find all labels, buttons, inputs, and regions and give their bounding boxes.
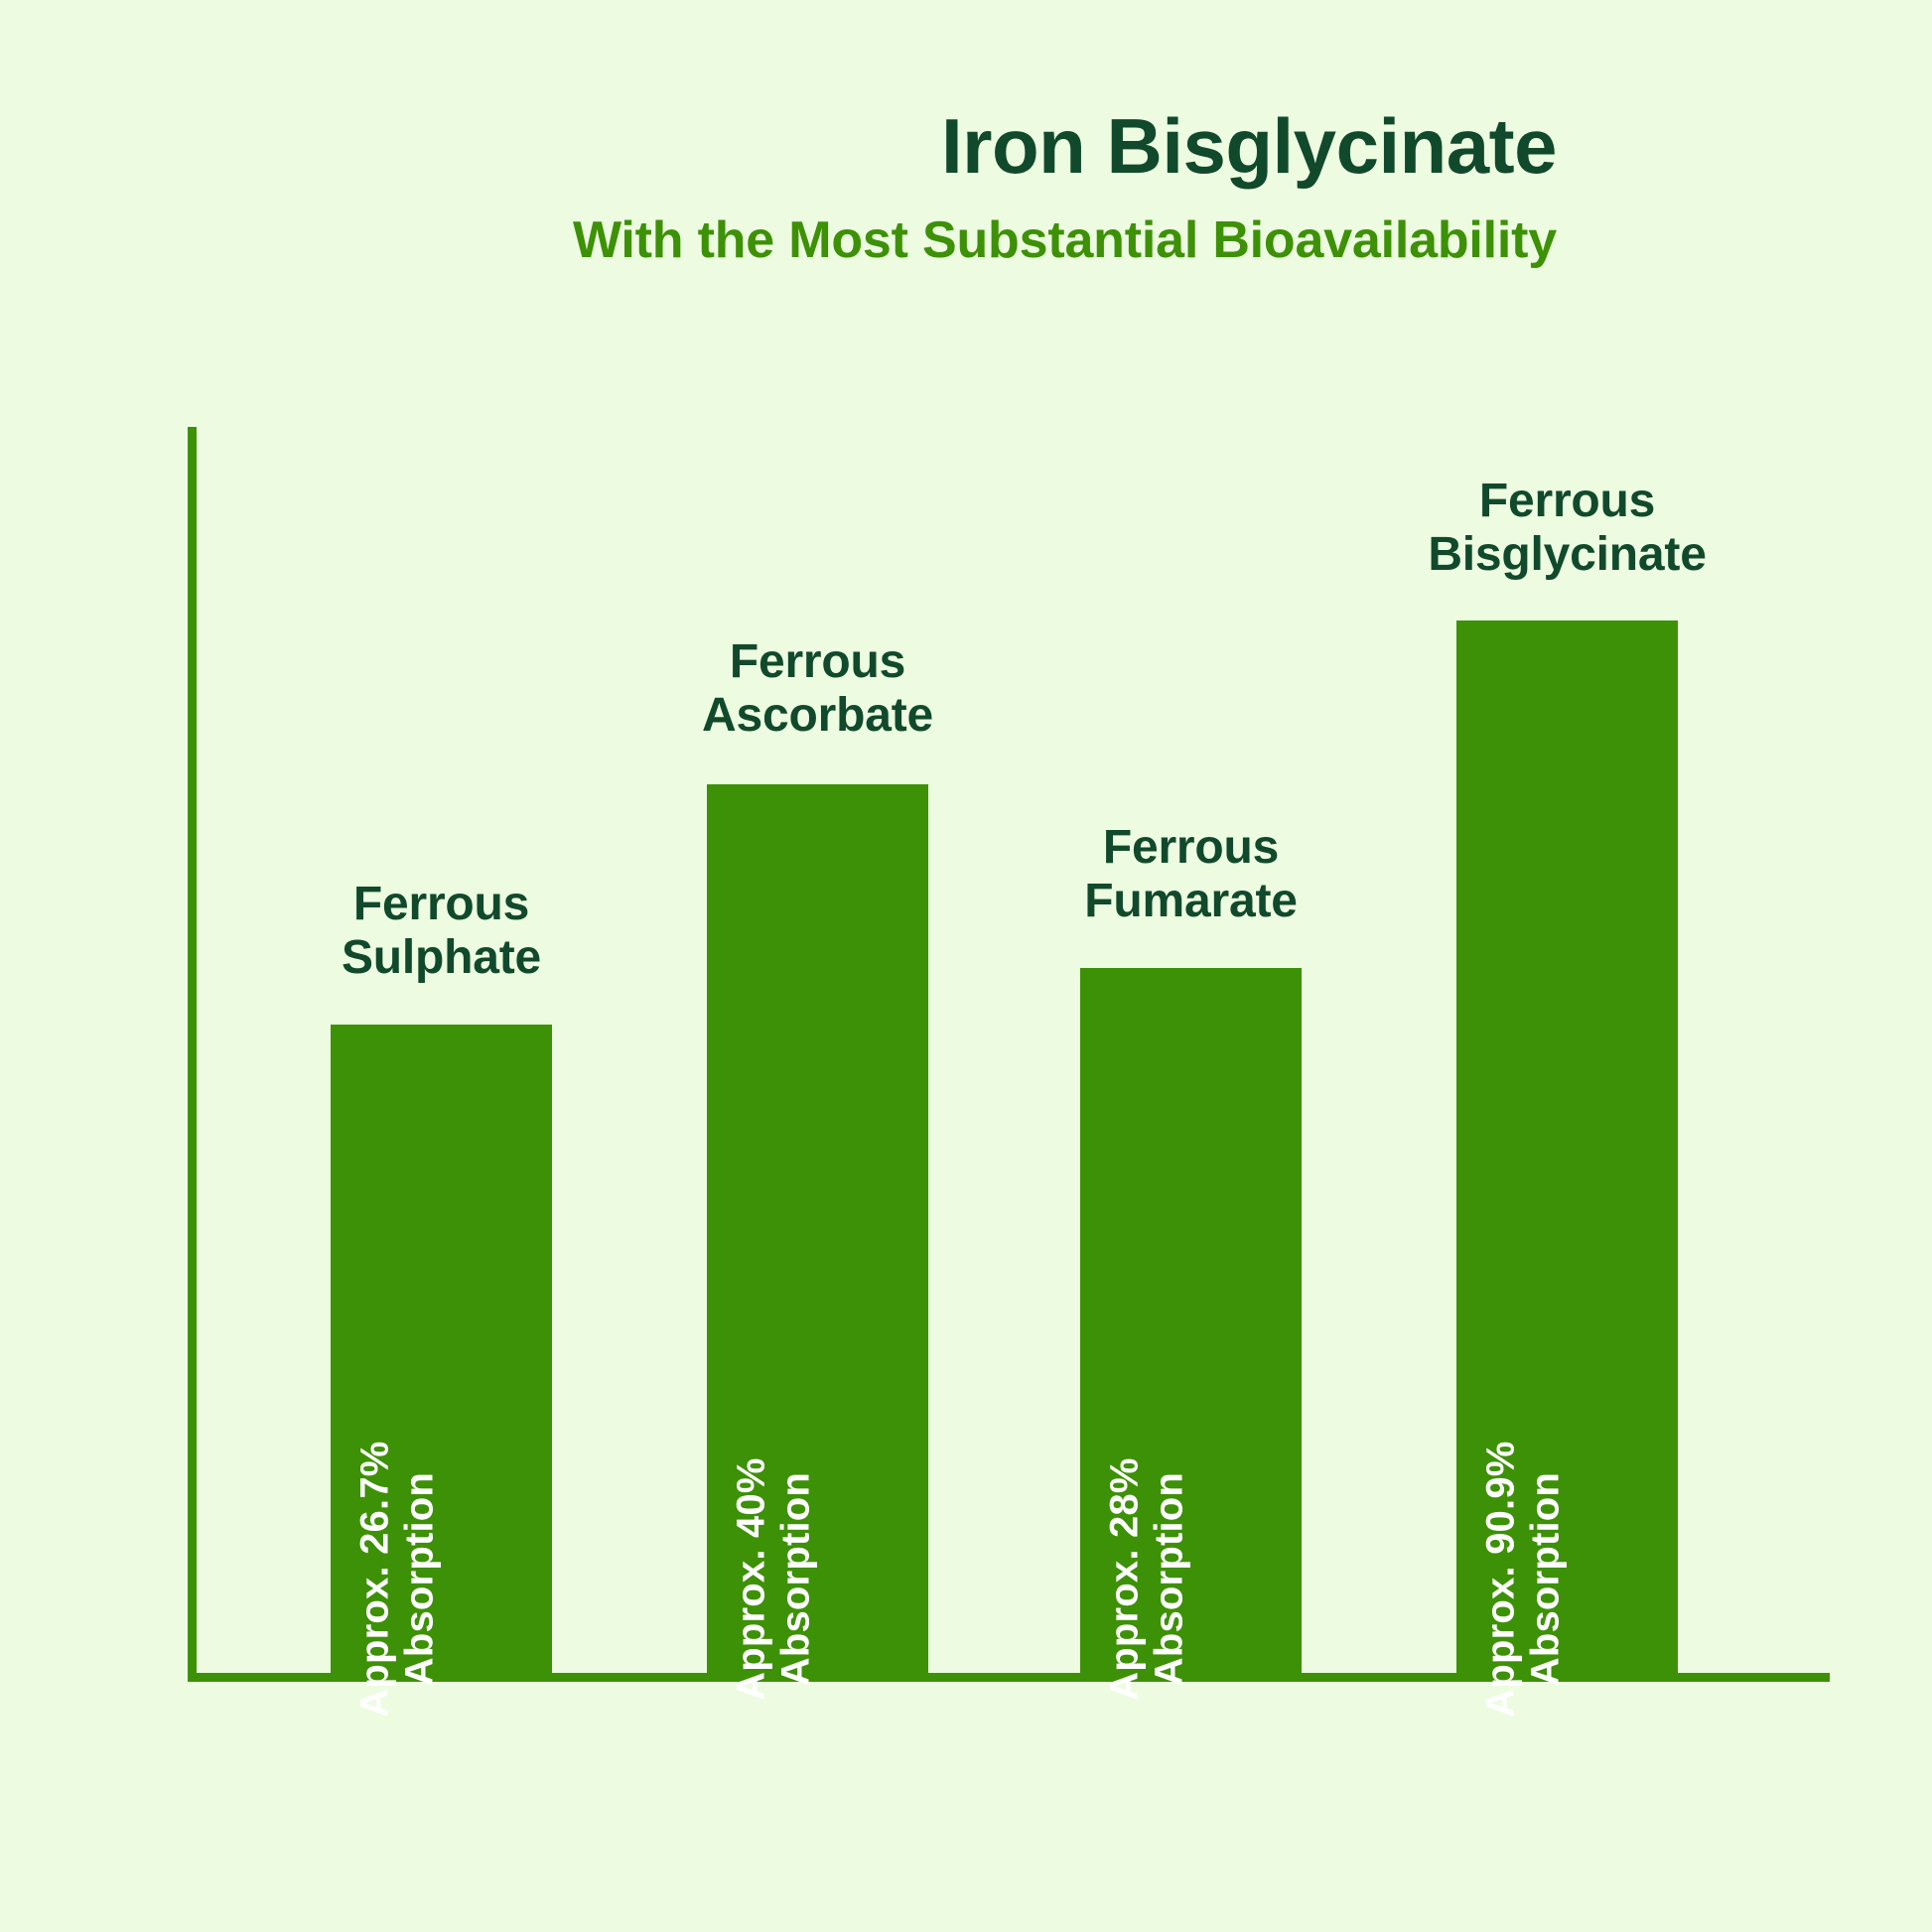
bar-category-label-line1: Ferrous [1428,475,1706,528]
bar-category-label: Ferrous Sulphate [342,878,541,985]
bar-category-label: Ferrous Fumarate [1084,821,1297,928]
bar-value-label: Approx. 40% Absorption [729,1458,818,1702]
bar-value-label-line2: Absorption [1523,1442,1568,1718]
bar-ferrous-sulphate[interactable]: Approx. 26.7% Absorption [331,1025,552,1675]
bar-ferrous-bisglycinate[interactable]: Approx. 90.9% Absorption [1456,621,1678,1675]
bar-value-label: Approx. 26.7% Absorption [352,1442,442,1718]
bar-value-label: Approx. 90.9% Absorption [1478,1442,1568,1718]
infographic-canvas: Iron Bisglycinate With the Most Substant… [0,0,1932,1932]
bar-value-label-line1: Approx. 26.7% [352,1442,397,1718]
y-axis-line [188,427,197,1682]
bar-value-label-line2: Absorption [1147,1458,1191,1702]
bar-value-label: Approx. 28% Absorption [1102,1458,1191,1702]
bar-ferrous-ascorbate[interactable]: Approx. 40% Absorption [707,784,928,1675]
bar-category-label-line2: Fumarate [1084,875,1297,928]
bar-category-label-line1: Ferrous [702,635,933,689]
bar-value-label-line1: Approx. 40% [729,1458,773,1702]
bar-category-label-line2: Ascorbate [702,689,933,743]
bar-chart-plot: Ferrous Sulphate Approx. 26.7% Absorptio… [0,0,1932,1932]
bar-category-label-line2: Bisglycinate [1428,528,1706,582]
bar-category-label-line2: Sulphate [342,931,541,985]
bar-category-label-line1: Ferrous [1084,821,1297,875]
bar-value-label-line1: Approx. 90.9% [1478,1442,1523,1718]
bar-value-label-line2: Absorption [397,1442,442,1718]
bar-ferrous-fumarate[interactable]: Approx. 28% Absorption [1080,968,1302,1675]
bar-category-label: Ferrous Bisglycinate [1428,475,1706,582]
bar-category-label: Ferrous Ascorbate [702,635,933,743]
bar-value-label-line1: Approx. 28% [1102,1458,1147,1702]
bar-group-ferrous-ascorbate: Ferrous Ascorbate Approx. 40% Absorption [707,635,928,1675]
bar-group-ferrous-sulphate: Ferrous Sulphate Approx. 26.7% Absorptio… [331,878,552,1675]
bar-group-ferrous-bisglycinate: Ferrous Bisglycinate Approx. 90.9% Absor… [1456,475,1678,1675]
bar-category-label-line1: Ferrous [342,878,541,931]
bar-group-ferrous-fumarate: Ferrous Fumarate Approx. 28% Absorption [1080,821,1302,1675]
bar-value-label-line2: Absorption [773,1458,818,1702]
